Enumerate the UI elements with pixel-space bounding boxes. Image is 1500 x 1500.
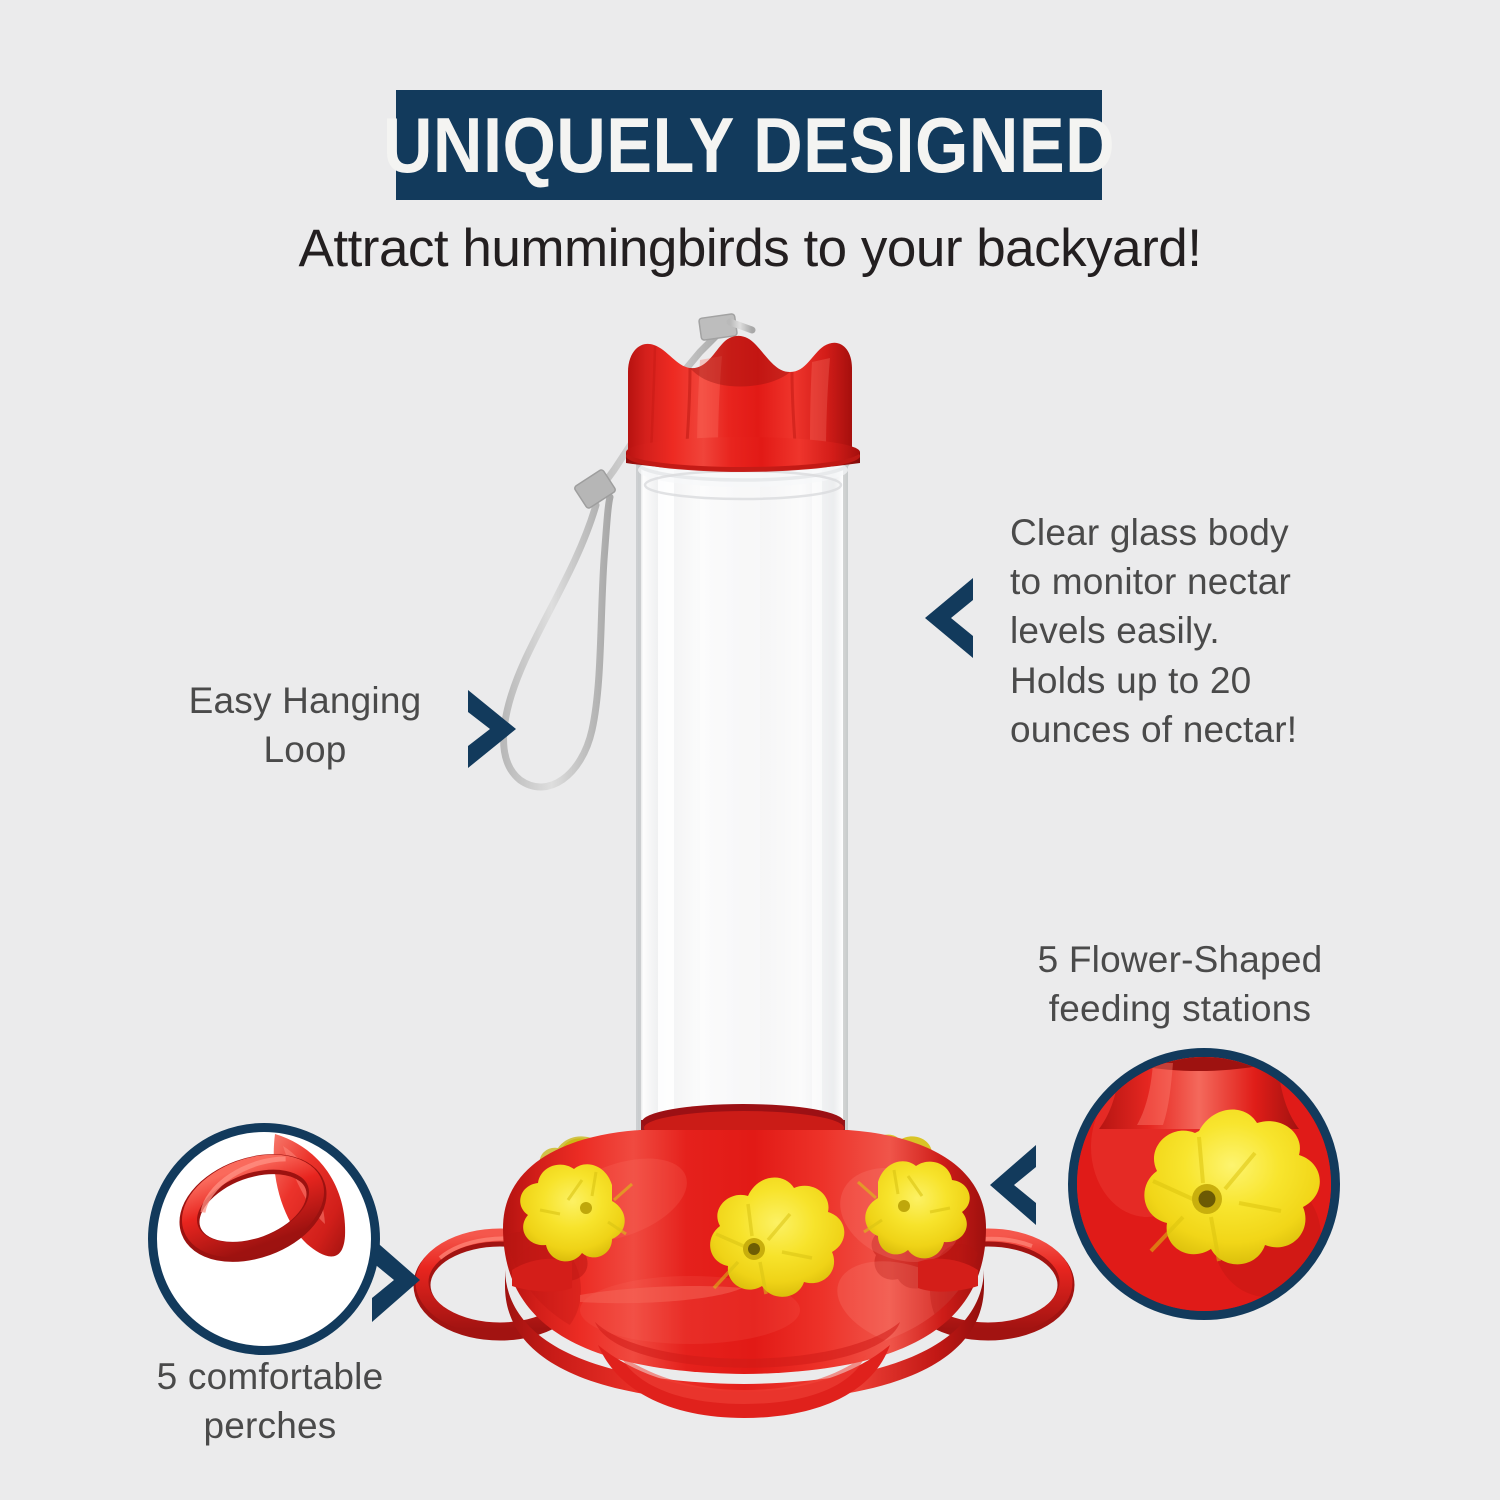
infographic-canvas: UNIQUELY DESIGNED Attract hummingbirds t… (0, 0, 1500, 1500)
glass-tube (636, 446, 848, 1184)
chevron-left-icon (915, 572, 985, 664)
annotation-line: 5 Flower-Shaped (1000, 935, 1360, 984)
annotation-line: levels easily. (1010, 606, 1360, 655)
red-crown-cap (626, 336, 860, 472)
annotation-line: ounces of nectar! (1010, 705, 1360, 754)
perch-ring-closeup-art (157, 1132, 371, 1346)
annotation-perches: 5 comfortable perches (105, 1352, 435, 1450)
chevron-right-icon (460, 684, 530, 774)
flower-port-closeup-art (1077, 1057, 1331, 1311)
annotation-line: to monitor nectar (1010, 557, 1360, 606)
annotation-line: Clear glass body (1010, 508, 1360, 557)
annotation-feeding-stations: 5 Flower-Shaped feeding stations (1000, 935, 1360, 1033)
flower-port-closeup-callout (1068, 1048, 1340, 1320)
perch-ring-closeup-callout (148, 1123, 380, 1355)
annotation-hanging-loop: Easy Hanging Loop (160, 676, 450, 774)
annotation-line: Holds up to 20 (1010, 656, 1360, 705)
feeder-base (422, 1111, 1066, 1418)
annotation-line: feeding stations (1000, 984, 1360, 1033)
annotation-line: Easy Hanging (160, 676, 450, 725)
chevron-left-icon (980, 1140, 1046, 1230)
annotation-line: perches (105, 1401, 435, 1450)
annotation-line: Loop (160, 725, 450, 774)
annotation-line: 5 comfortable (105, 1352, 435, 1401)
annotation-clear-glass: Clear glass body to monitor nectar level… (1010, 508, 1360, 754)
